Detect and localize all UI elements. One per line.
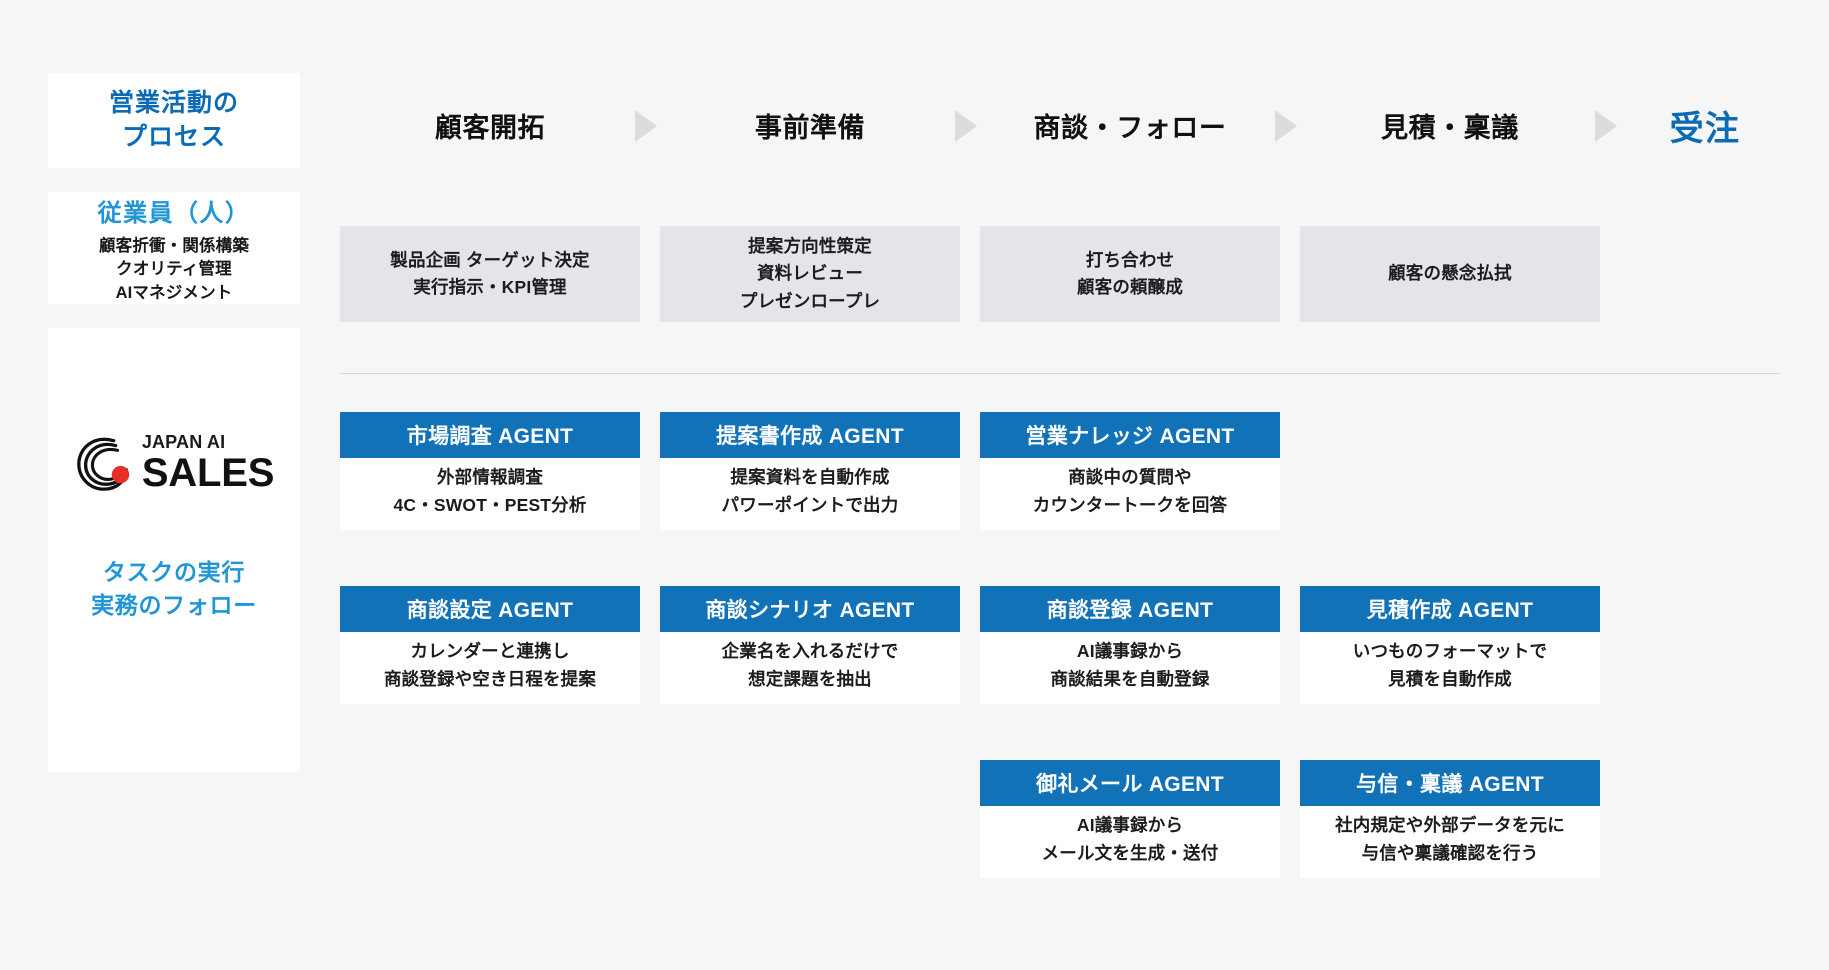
sidebar-employee-subline-3: AIマネジメント — [99, 282, 249, 305]
phase-label-4: 見積・稟議 — [1300, 94, 1600, 156]
employee-task-box-3: 打ち合わせ顧客の頼醸成 — [980, 226, 1280, 322]
employee-task-line: 資料レビュー — [740, 260, 880, 287]
agent-card[interactable]: 見積作成 AGENTいつものフォーマットで見積を自動作成 — [1300, 586, 1600, 704]
agent-card[interactable]: 御礼メール AGENTAI議事録からメール文を生成・送付 — [980, 760, 1280, 878]
phase-label-5: 受注 — [1620, 94, 1790, 156]
sidebar-process-heading: 営業活動の プロセス — [109, 87, 239, 154]
sidebar-process-card: 営業活動の プロセス — [48, 73, 300, 168]
agent-card-description-line: 商談結果を自動登録 — [1050, 666, 1209, 694]
agent-card-description-line: 提案資料を自動作成 — [722, 464, 899, 492]
agent-card-title: 商談設定 AGENT — [340, 586, 640, 632]
employee-task-text: 製品企画 ターゲット決定実行指示・KPI管理 — [390, 247, 589, 301]
agent-card-description: AI議事録から商談結果を自動登録 — [980, 632, 1280, 704]
agent-card-title: 商談シナリオ AGENT — [660, 586, 960, 632]
agent-card[interactable]: 与信・稟議 AGENT社内規定や外部データを元に与信や稟議確認を行う — [1300, 760, 1600, 878]
agent-card-description-line: メール文を生成・送付 — [1042, 840, 1219, 868]
agent-card-description-line: 商談登録や空き日程を提案 — [384, 666, 596, 694]
agent-card-description: いつものフォーマットで見積を自動作成 — [1300, 632, 1600, 704]
agent-card-description-line: AI議事録から — [1042, 812, 1219, 840]
sidebar-employee-heading: 従業員（人） — [98, 193, 251, 228]
agent-card[interactable]: 商談設定 AGENTカレンダーと連携し商談登録や空き日程を提案 — [340, 586, 640, 704]
brand-wordmark-main: SALES — [142, 453, 274, 493]
sidebar-agent-card: JAPAN AI SALES タスクの実行 実務のフォロー — [48, 328, 300, 772]
employee-task-box-4: 顧客の懸念払拭 — [1300, 226, 1600, 322]
brand-wordmark: JAPAN AI SALES — [142, 433, 274, 493]
agent-card-description: 商談中の質問やカウンタートークを回答 — [980, 458, 1280, 530]
agent-card-description: 企業名を入れるだけで想定課題を抽出 — [660, 632, 960, 704]
phase-label-2: 事前準備 — [660, 94, 960, 156]
diagram-root: 営業活動の プロセス 従業員（人） 顧客折衝・関係構築 クオリティ管理 AIマネ… — [0, 0, 1829, 970]
employee-task-line: 提案方向性策定 — [740, 233, 880, 260]
employee-task-text: 提案方向性策定資料レビュープレゼンロープレ — [740, 233, 880, 314]
phase-label-1: 顧客開拓 — [340, 94, 640, 156]
agent-card-description-line: 企業名を入れるだけで — [722, 638, 899, 666]
sidebar-employee-sublines: 顧客折衝・関係構築 クオリティ管理 AIマネジメント — [99, 235, 249, 305]
sidebar-employee-subline-1: 顧客折衝・関係構築 — [99, 235, 249, 258]
employee-task-line: 顧客の頼醸成 — [1077, 274, 1183, 301]
agent-card[interactable]: 営業ナレッジ AGENT商談中の質問やカウンタートークを回答 — [980, 412, 1280, 530]
section-divider — [340, 373, 1780, 374]
agent-card-description: カレンダーと連携し商談登録や空き日程を提案 — [340, 632, 640, 704]
agent-card-title: 与信・稟議 AGENT — [1300, 760, 1600, 806]
agent-card-description: 提案資料を自動作成パワーポイントで出力 — [660, 458, 960, 530]
employee-task-text: 顧客の懸念払拭 — [1388, 260, 1512, 287]
agent-card-title: 市場調査 AGENT — [340, 412, 640, 458]
sidebar-employee-card: 従業員（人） 顧客折衝・関係構築 クオリティ管理 AIマネジメント — [48, 192, 300, 304]
agent-card-description-line: 与信や稟議確認を行う — [1335, 840, 1565, 868]
agent-card-title: 御礼メール AGENT — [980, 760, 1280, 806]
agent-card-description-line: 見積を自動作成 — [1353, 666, 1547, 694]
agent-card-description-line: 社内規定や外部データを元に — [1335, 812, 1565, 840]
brand-wordmark-top: JAPAN AI — [142, 433, 274, 451]
agent-card-description-line: 外部情報調査 — [393, 464, 586, 492]
agent-card[interactable]: 商談登録 AGENTAI議事録から商談結果を自動登録 — [980, 586, 1280, 704]
brand-logo: JAPAN AI SALES — [74, 432, 274, 494]
agent-card-title: 営業ナレッジ AGENT — [980, 412, 1280, 458]
agent-card-description: 外部情報調査4C・SWOT・PEST分析 — [340, 458, 640, 530]
agent-card-description-line: カレンダーと連携し — [384, 638, 596, 666]
agent-card-description-line: パワーポイントで出力 — [722, 492, 899, 520]
agent-card-description-line: いつものフォーマットで — [1353, 638, 1547, 666]
agent-card[interactable]: 市場調査 AGENT外部情報調査4C・SWOT・PEST分析 — [340, 412, 640, 530]
agent-card[interactable]: 商談シナリオ AGENT企業名を入れるだけで想定課題を抽出 — [660, 586, 960, 704]
agent-card-description-line: 商談中の質問や — [1033, 464, 1227, 492]
agent-card-description: 社内規定や外部データを元に与信や稟議確認を行う — [1300, 806, 1600, 878]
agent-card-title: 提案書作成 AGENT — [660, 412, 960, 458]
sidebar-agent-subline-1: タスクの実行 — [91, 556, 257, 589]
employee-task-box-2: 提案方向性策定資料レビュープレゼンロープレ — [660, 226, 960, 322]
triangle-right-icon — [955, 110, 977, 142]
agent-card-title: 見積作成 AGENT — [1300, 586, 1600, 632]
japan-ai-sales-mark-icon — [74, 432, 136, 494]
diagram-canvas: 営業活動の プロセス 従業員（人） 顧客折衝・関係構築 クオリティ管理 AIマネ… — [0, 0, 1829, 970]
triangle-right-icon — [1595, 110, 1617, 142]
sidebar-process-line2: プロセス — [109, 121, 239, 154]
employee-task-line: 製品企画 ターゲット決定 — [390, 247, 589, 274]
sidebar-agent-sublines: タスクの実行 実務のフォロー — [91, 556, 257, 621]
employee-task-line: プレゼンロープレ — [740, 288, 880, 315]
agent-card-description-line: カウンタートークを回答 — [1033, 492, 1227, 520]
agent-card-description-line: AI議事録から — [1050, 638, 1209, 666]
phase-label-3: 商談・フォロー — [980, 94, 1280, 156]
employee-task-line: 打ち合わせ — [1077, 247, 1183, 274]
agent-card-title: 商談登録 AGENT — [980, 586, 1280, 632]
sidebar-agent-subline-2: 実務のフォロー — [91, 589, 257, 622]
agent-card-description-line: 4C・SWOT・PEST分析 — [393, 492, 586, 520]
employee-task-line: 顧客の懸念払拭 — [1388, 260, 1512, 287]
employee-task-text: 打ち合わせ顧客の頼醸成 — [1077, 247, 1183, 301]
agent-card[interactable]: 提案書作成 AGENT提案資料を自動作成パワーポイントで出力 — [660, 412, 960, 530]
agent-card-description-line: 想定課題を抽出 — [722, 666, 899, 694]
sidebar-employee-subline-2: クオリティ管理 — [99, 258, 249, 281]
triangle-right-icon — [1275, 110, 1297, 142]
agent-card-description: AI議事録からメール文を生成・送付 — [980, 806, 1280, 878]
triangle-right-icon — [635, 110, 657, 142]
employee-task-box-1: 製品企画 ターゲット決定実行指示・KPI管理 — [340, 226, 640, 322]
employee-task-line: 実行指示・KPI管理 — [390, 274, 589, 301]
sidebar-process-line1: 営業活動の — [109, 87, 239, 120]
